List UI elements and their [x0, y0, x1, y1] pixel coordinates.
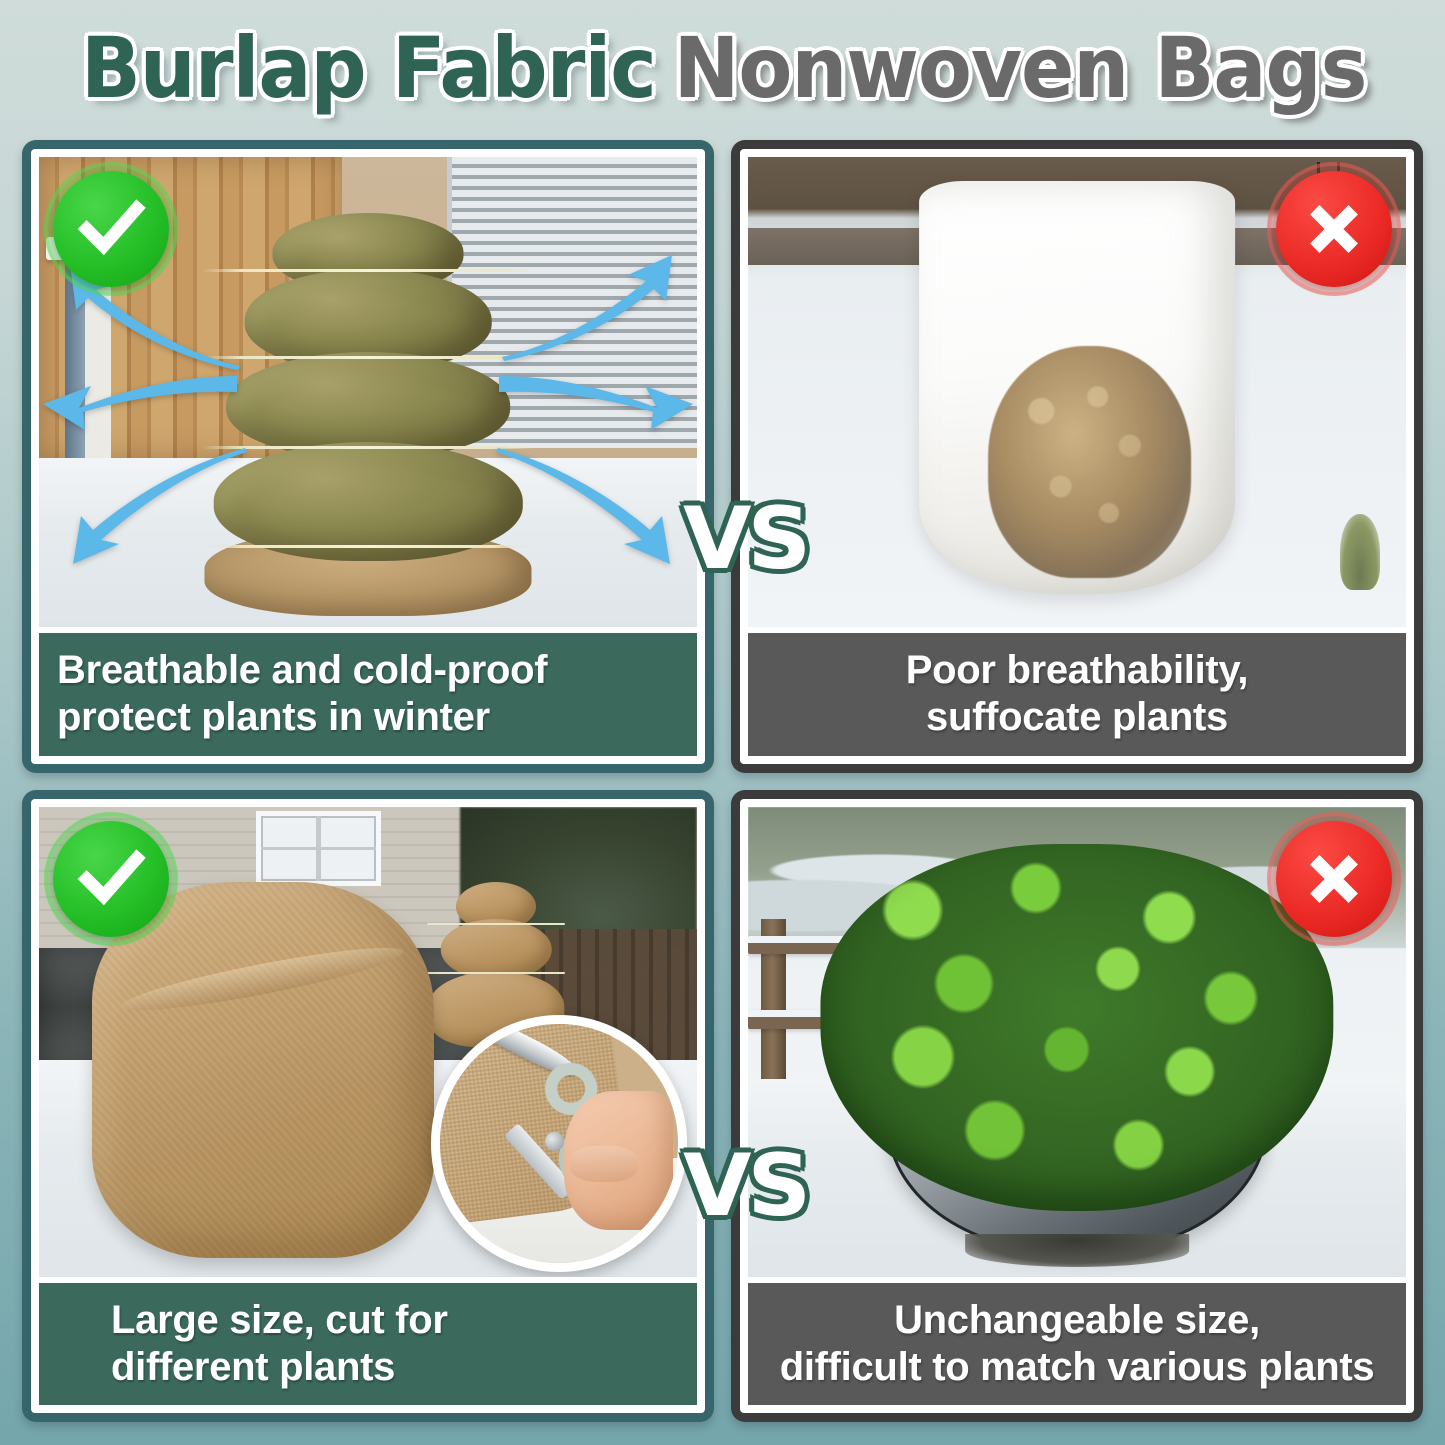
photo-nonwoven-bag-dead-plant — [748, 157, 1406, 627]
inset-cutting-photo — [431, 1015, 688, 1272]
page-title-right: Nonwoven Bags — [674, 26, 1367, 110]
twine-line — [201, 356, 535, 359]
bag-skirt — [965, 1234, 1189, 1267]
scissors-pivot — [545, 1132, 564, 1151]
burlap-drape — [92, 882, 434, 1258]
plant-lobe-lower — [213, 442, 522, 560]
caption-top-right: Poor breathability, suffocate plants — [748, 633, 1406, 755]
panel-top-left[interactable]: Breathable and cold-proof protect plants… — [22, 140, 714, 773]
header: Burlap Fabric Nonwoven Bags — [0, 0, 1445, 128]
caption-bottom-right: Unchangeable size, difficult to match va… — [748, 1283, 1406, 1405]
caption-line: Poor breathability, — [766, 647, 1388, 694]
panel-bottom-right[interactable]: Unchangeable size, difficult to match va… — [731, 790, 1423, 1423]
photo-burlap-drape-and-cutting — [39, 807, 697, 1277]
photo-burlap-wrapped-conifer — [39, 157, 697, 627]
twine-line — [201, 446, 535, 449]
airflow-arrow-lower-left — [59, 448, 249, 568]
airflow-arrow-lower-right — [494, 448, 684, 568]
caption-top-left: Breathable and cold-proof protect plants… — [39, 633, 697, 755]
check-icon — [53, 821, 169, 937]
panel-bottom-right-inner: Unchangeable size, difficult to match va… — [740, 799, 1414, 1414]
airflow-arrow-upper-right — [500, 251, 690, 361]
grass-tuft — [1340, 514, 1379, 589]
hand — [564, 1091, 674, 1229]
check-glyph — [74, 842, 148, 916]
panel-top-right[interactable]: Poor breathability, suffocate plants — [731, 140, 1423, 773]
panel-top-left-inner: Breathable and cold-proof protect plants… — [31, 149, 705, 764]
caption-bottom-left: Large size, cut for different plants — [39, 1283, 697, 1405]
airflow-arrow-left — [39, 364, 239, 434]
caption-line: suffocate plants — [766, 694, 1388, 741]
nonwoven-bag — [919, 181, 1235, 595]
page-title-left: Burlap Fabric — [81, 26, 656, 110]
boxwood-shrub — [820, 844, 1333, 1211]
caption-line: different plants — [111, 1344, 679, 1391]
airflow-arrow-right — [497, 364, 697, 434]
twine-line — [427, 923, 565, 925]
cross-glyph — [1297, 192, 1371, 266]
vs-label-top: VS — [683, 489, 807, 589]
shrub-lobe-middle — [441, 919, 552, 979]
caption-line: Breathable and cold-proof — [57, 647, 679, 694]
panel-bottom-left[interactable]: Large size, cut for different plants — [22, 790, 714, 1423]
twine-line — [427, 972, 565, 974]
panel-top-right-inner: Poor breathability, suffocate plants — [740, 149, 1414, 764]
check-icon — [53, 171, 169, 287]
house-window — [256, 811, 381, 886]
check-glyph — [74, 192, 148, 266]
twine-line — [201, 545, 535, 548]
caption-line: Large size, cut for — [111, 1297, 679, 1344]
photo-boxwood-overflowing-bag — [748, 807, 1406, 1277]
caption-line: difficult to match various plants — [766, 1344, 1388, 1391]
wrapped-plant — [213, 213, 522, 608]
vs-label-bottom: VS — [683, 1136, 807, 1236]
cross-icon — [1276, 821, 1392, 937]
caption-line: Unchangeable size, — [766, 1297, 1388, 1344]
browned-foliage — [989, 346, 1191, 578]
cross-glyph — [1297, 842, 1371, 916]
caption-line: protect plants in winter — [57, 694, 679, 741]
twine-line — [201, 269, 535, 272]
cross-icon — [1276, 171, 1392, 287]
panel-bottom-left-inner: Large size, cut for different plants — [31, 799, 705, 1414]
